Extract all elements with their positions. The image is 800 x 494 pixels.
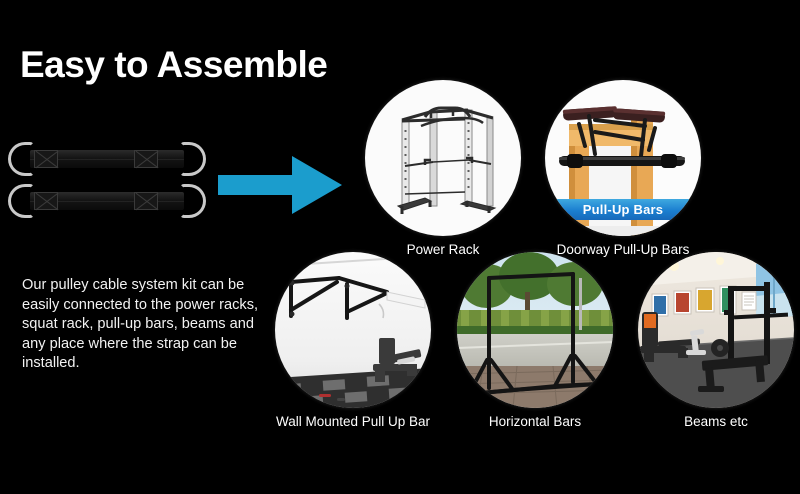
- photo-card-wall-mounted-pull-up-bar: Wall Mounted Pull Up Bar: [275, 252, 431, 408]
- photo-card-horizontal-bars: Horizontal Bars: [457, 252, 613, 408]
- photo-card-doorway-pull-up-bars: Pull-Up Bars Doorway Pull-Up Bars: [545, 80, 701, 236]
- photo-doorway-pull-up-bars: Pull-Up Bars: [545, 80, 701, 236]
- strap-item: [8, 184, 206, 218]
- stitch-patch-icon: [34, 150, 58, 168]
- d-ring-icon: [180, 184, 206, 218]
- photo-card-power-rack: Power Rack: [365, 80, 521, 236]
- photo-caption: Beams etc: [684, 414, 748, 429]
- stitch-patch-icon: [134, 150, 158, 168]
- photo-caption: Horizontal Bars: [489, 414, 581, 429]
- product-infographic: Easy to Assemble Our pulley cable system…: [0, 0, 800, 494]
- stitch-patch-icon: [34, 192, 58, 210]
- right-arrow-icon: [218, 152, 344, 218]
- photo-wall-mounted-pull-up-bar: [275, 252, 431, 408]
- stitch-patch-icon: [134, 192, 158, 210]
- photo-power-rack: [365, 80, 521, 236]
- photo-horizontal-bars: [457, 252, 613, 408]
- strap-item: [8, 142, 206, 176]
- page-title: Easy to Assemble: [20, 46, 327, 83]
- d-ring-icon: [180, 142, 206, 176]
- photo-card-beams-etc: Beams etc: [638, 252, 794, 408]
- description-text: Our pulley cable system kit can be easil…: [22, 276, 272, 374]
- product-straps: [8, 140, 208, 230]
- photo-caption: Wall Mounted Pull Up Bar: [276, 414, 430, 429]
- photo-beams-etc: [638, 252, 794, 408]
- status-badge: Pull-Up Bars: [545, 199, 701, 220]
